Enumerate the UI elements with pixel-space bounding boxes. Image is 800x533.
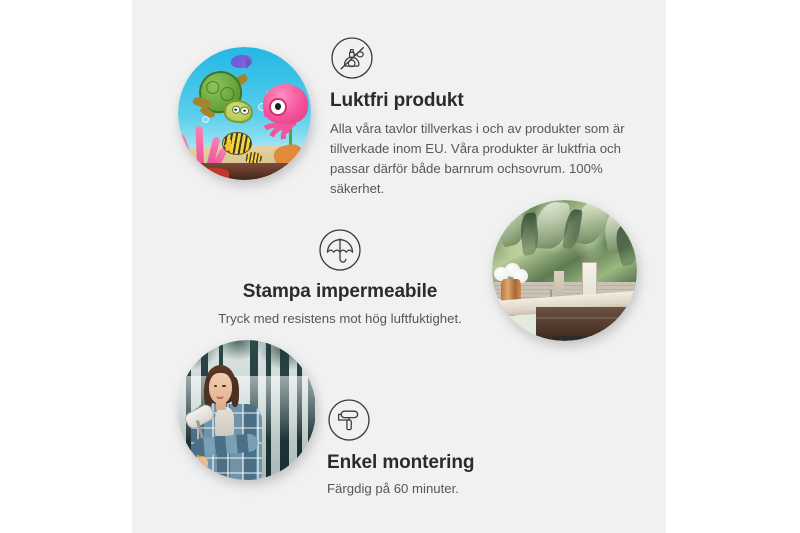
wood-vanity bbox=[536, 307, 638, 341]
feature-waterproof: Stampa impermeabile Tryck med resistens … bbox=[205, 228, 475, 329]
feature-odourless-icon-wrap bbox=[330, 36, 630, 80]
bathroom-scene bbox=[492, 200, 637, 341]
feature-waterproof-title: Stampa impermeabile bbox=[205, 281, 475, 304]
feature-easy-mounting: Enkel montering Färgdig på 60 minuter. bbox=[327, 398, 607, 499]
photo-bathroom-tropical-wallpaper: Badrum med tropisk bladtapet och mörkt t… bbox=[492, 200, 637, 341]
woman-figure bbox=[186, 365, 272, 480]
yellow-fish-icon bbox=[222, 132, 252, 155]
feature-waterproof-icon-wrap bbox=[205, 228, 475, 272]
photo-underwater-kids-mural: Tecknad undervattensscen med sköldpadda,… bbox=[178, 47, 311, 180]
feature-easy-mounting-icon-wrap bbox=[327, 398, 607, 442]
foreground-band bbox=[178, 163, 311, 180]
feature-waterproof-body: Tryck med resistens mot hög luftfuktighe… bbox=[205, 309, 475, 329]
paint-roller-icon bbox=[327, 398, 371, 442]
feature-odourless: Luktfri produkt Alla våra tavlor tillver… bbox=[330, 36, 630, 199]
no-perfume-icon bbox=[330, 36, 374, 80]
soap-dispenser-icon bbox=[554, 271, 564, 299]
page-root: Tecknad undervattensscen med sköldpadda,… bbox=[0, 0, 800, 533]
feature-odourless-body: Alla våra tavlor tillverkas i och av pro… bbox=[330, 119, 630, 199]
feature-easy-mounting-body: Färgdig på 60 minuter. bbox=[327, 479, 607, 499]
photo-woman-with-paint-roller-forest: Leende kvinna i rutig skjorta med målarr… bbox=[178, 340, 316, 480]
forest-wallpaper bbox=[178, 340, 316, 480]
blue-fish-icon bbox=[231, 55, 252, 68]
sea-turtle-icon bbox=[191, 71, 254, 124]
umbrella-icon bbox=[318, 228, 362, 272]
feature-odourless-title: Luktfri produkt bbox=[330, 90, 630, 113]
sea-background bbox=[178, 47, 311, 180]
feature-easy-mounting-title: Enkel montering bbox=[327, 452, 607, 475]
octopus-icon bbox=[247, 84, 308, 153]
